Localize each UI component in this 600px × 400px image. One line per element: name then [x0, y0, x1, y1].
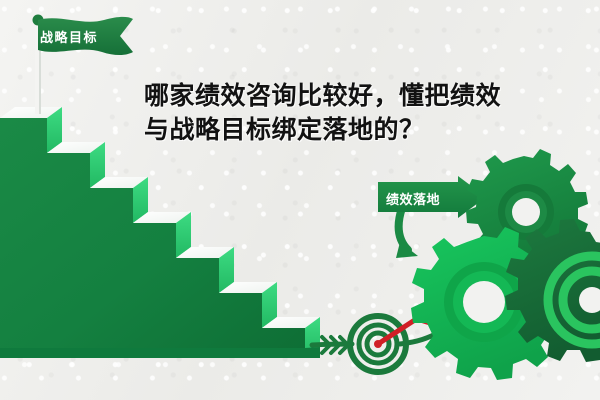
page-title: 哪家绩效咨询比较好，懂把绩效 与战略目标绑定落地的？ [144, 80, 584, 147]
illustration-layer [0, 0, 600, 400]
staircase-body [0, 118, 305, 358]
flag-label: 战略目标 [40, 27, 98, 46]
gear-main-hub-hole [463, 281, 505, 323]
flag-label-text: 战略目标 [40, 30, 98, 45]
staircase-base-strip [0, 347, 320, 358]
title-line-2: 与战略目标绑定落地的？ [144, 114, 584, 148]
title-line-1: 哪家绩效咨询比较好，懂把绩效 [144, 80, 584, 114]
journey-path [312, 326, 446, 353]
poster-canvas: 战略目标 哪家绩效咨询比较好，懂把绩效 与战略目标绑定落地的？ 绩效落地 [0, 0, 600, 400]
banner-label-text: 绩效落地 [386, 192, 440, 207]
banner-label: 绩效落地 [386, 189, 440, 208]
curved-arrow-graphic [396, 208, 418, 258]
gear-top-hub-hole [512, 198, 540, 226]
